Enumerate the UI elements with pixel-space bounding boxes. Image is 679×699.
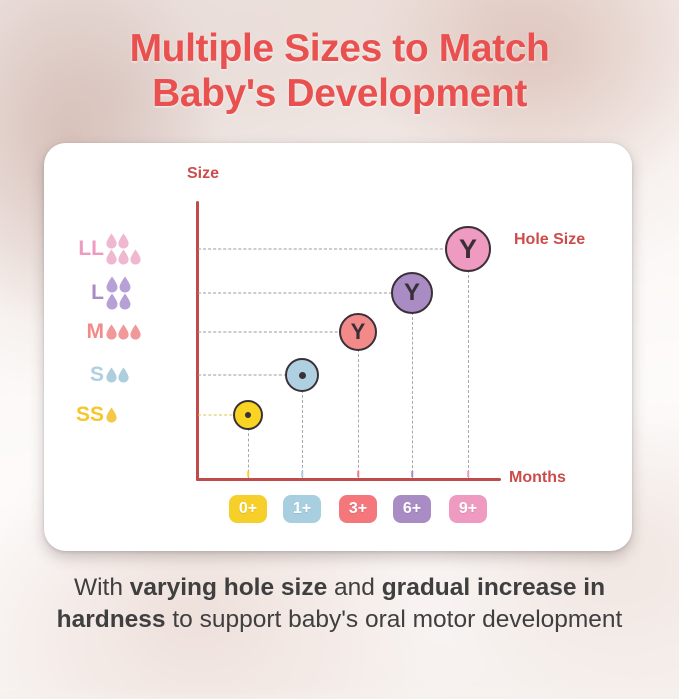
caption-bold-3: hardness (57, 606, 166, 633)
connector-6plus (412, 312, 413, 478)
data-point-ll-9plus[interactable]: Y (445, 226, 491, 272)
droplet-row (106, 325, 141, 340)
page-title-line-1: Multiple Sizes to Match (0, 26, 679, 71)
page-title: Multiple Sizes to Match Baby's Developme… (0, 26, 679, 116)
month-badge-6plus[interactable]: 6+ (393, 495, 431, 523)
y-axis-line (196, 201, 199, 481)
page-title-line-2: Baby's Development (0, 71, 679, 116)
month-badge-9plus[interactable]: 9+ (449, 495, 487, 523)
x-axis-tick-3plus (357, 471, 359, 477)
x-axis-tick-9plus (467, 471, 469, 477)
droplet-group-ss (106, 408, 154, 423)
chart-card: Size Months Hole Size LLLMSSS YYY 0+1+3+… (44, 143, 632, 551)
droplet-row (106, 250, 141, 265)
droplet-row (106, 368, 129, 383)
gridline-l (198, 293, 412, 294)
x-axis-tick-0plus (247, 471, 249, 477)
caption-bold-1: varying hole size (130, 574, 327, 601)
droplet-group-m (106, 325, 154, 340)
y-axis-label-ss: SS (76, 403, 104, 427)
hole-dot-icon (299, 372, 306, 379)
y-axis-label-ll: LL (78, 237, 104, 261)
caption-text-3: to support baby's oral motor development (166, 606, 623, 633)
droplet-group-ll (106, 234, 154, 265)
gridline-ll (198, 249, 468, 250)
data-point-ss-0plus[interactable] (233, 400, 263, 430)
droplet-group-l (106, 277, 154, 310)
caption: With varying hole size and gradual incre… (18, 572, 661, 636)
droplet-group-s (106, 368, 154, 383)
caption-line-2: hardness to support baby's oral motor de… (18, 604, 661, 636)
connector-1plus (302, 390, 303, 478)
caption-bold-2: gradual increase in (382, 574, 605, 601)
droplet-row (106, 234, 129, 249)
gridline-m (198, 332, 358, 333)
month-badge-1plus[interactable]: 1+ (283, 495, 321, 523)
droplet-row (106, 294, 131, 310)
connector-9plus (468, 270, 469, 478)
y-axis-label-s: S (90, 363, 104, 387)
month-badge-0plus[interactable]: 0+ (229, 495, 267, 523)
y-axis-title: Size (187, 165, 219, 183)
x-axis-tick-1plus (301, 471, 303, 477)
x-axis-line (196, 478, 501, 481)
hole-size-legend-label: Hole Size (514, 231, 585, 249)
data-point-m-3plus[interactable]: Y (339, 313, 377, 351)
y-axis-label-l: L (91, 281, 104, 305)
data-point-l-6plus[interactable]: Y (391, 272, 433, 314)
month-badge-3plus[interactable]: 3+ (339, 495, 377, 523)
data-point-s-1plus[interactable] (285, 358, 319, 392)
connector-3plus (358, 349, 359, 478)
hole-dot-icon (245, 412, 251, 418)
caption-line-1: With varying hole size and gradual incre… (18, 572, 661, 604)
x-axis-title: Months (509, 469, 566, 487)
droplet-row (106, 277, 131, 293)
droplet-row (106, 408, 117, 423)
chart-plot-area: Size Months Hole Size LLLMSSS YYY 0+1+3+… (44, 143, 632, 551)
caption-text: With (74, 574, 130, 601)
y-axis-label-m: M (87, 320, 105, 344)
x-axis-tick-6plus (411, 471, 413, 477)
caption-text-2: and (327, 574, 382, 601)
